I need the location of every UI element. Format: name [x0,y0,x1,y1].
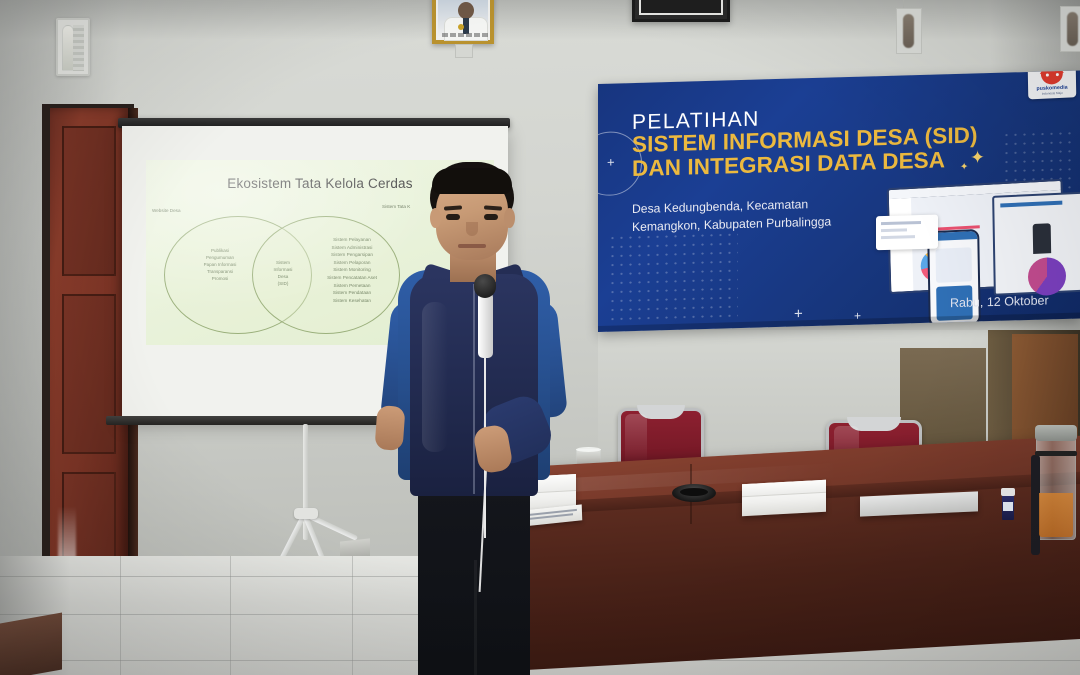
banner-date: Rabu, 12 Oktober [950,293,1049,310]
puskomedia-logo: puskomedia Indonesia Maju [1028,71,1077,100]
ventilation-window-icon [56,18,90,76]
plus-icon: + [607,155,615,170]
wall-vent-icon [896,8,922,54]
banner-subtitle-line2: Kemangkon, Kabupaten Purbalingga [632,214,831,234]
tripod-hub [294,508,318,519]
framed-portrait-dark [632,0,730,22]
small-bottle [1000,488,1016,520]
wooden-door[interactable] [50,108,128,574]
frame-plaque [455,44,473,58]
round-tray [672,484,716,502]
banner-dot-pattern [608,230,738,326]
presenter-hand-left [374,405,405,451]
presenter [378,162,568,675]
banner-subtitle-line1: Desa Kedungbenda, Kecamatan [632,197,808,216]
drink-tumbler [1036,428,1076,540]
sparkle-icon: ✦ [960,162,968,173]
wall-vent-icon [1060,6,1080,52]
microphone-head [474,274,496,298]
snack-box [742,480,826,516]
microphone[interactable] [478,292,493,358]
sparkle-icon: ✦ [970,147,985,168]
banner-floating-card [876,215,938,251]
presenter-trousers [418,480,530,675]
event-banner: + + + PELATIHAN [598,71,1080,332]
seminar-photo-scene: + + + PELATIHAN [0,0,1080,675]
floor-object [0,613,62,675]
framed-portrait-gold [432,0,494,44]
venn-label-left: Website Desa [152,208,181,213]
logo-tagline: Indonesia Maju [1028,90,1076,96]
